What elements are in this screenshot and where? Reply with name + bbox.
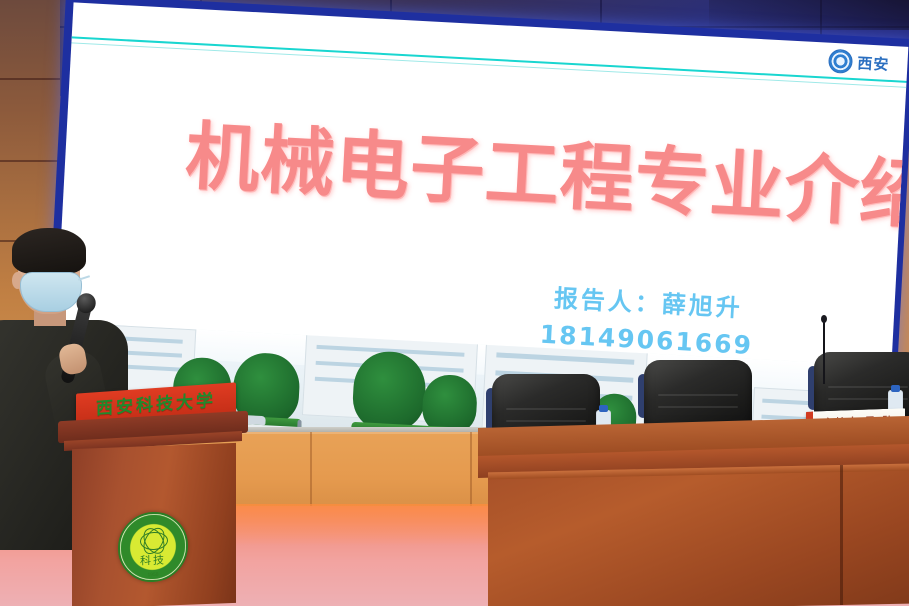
university-logo: 西安 <box>828 49 890 76</box>
lecture-hall-scene: 西安 机械电子工程专业介绍 报告人：薛旭升 18149061669 526903… <box>0 0 909 606</box>
ceiling-shadow <box>709 0 909 30</box>
university-emblem: 科技 1958 <box>118 511 188 584</box>
logo-text: 西安 <box>857 52 890 75</box>
atom-icon <box>140 532 166 549</box>
accent-line <box>72 36 907 82</box>
head-table: 嘉宾席 主持人 尹 弘 <box>478 416 909 606</box>
seal-icon <box>828 49 853 74</box>
face-mask <box>20 272 82 312</box>
table-front-panel <box>488 464 909 606</box>
emblem-glyphs: 科技 <box>120 551 186 570</box>
presenter-hair <box>12 228 86 274</box>
accent-line-secondary <box>71 42 906 87</box>
podium: 西安科技大学 科技 1958 <box>58 416 248 606</box>
slide-title: 机械电子工程专业介绍 <box>183 97 908 244</box>
table-microphone <box>823 320 825 384</box>
